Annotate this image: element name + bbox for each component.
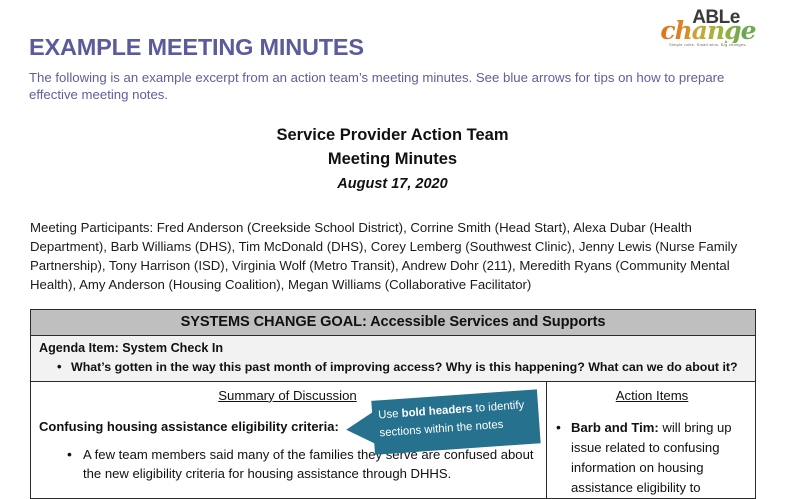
summary-column-header: Summary of Discussion: [39, 387, 536, 407]
able-change-logo: ABLe change Simple rules. Small wins. Bi…: [649, 6, 767, 56]
logo-tagline: Simple rules. Small wins. Big changes.: [634, 44, 782, 48]
team-name: Service Provider Action Team: [0, 124, 785, 148]
summary-bullet-list: A few team members said many of the fami…: [39, 445, 536, 484]
logo-word-able: ABLe: [692, 8, 740, 27]
agenda-bullet-list: What’s gotten in the way this past month…: [39, 359, 747, 376]
systems-change-goal-bar: SYSTEMS CHANGE GOAL: Accessible Services…: [31, 310, 755, 336]
minutes-columns: Summary of Discussion Confusing housing …: [31, 382, 755, 498]
action-item: Barb and Tim: will bring up issue relate…: [557, 418, 747, 498]
agenda-item-title: Agenda Item: System Check In: [39, 340, 747, 357]
action-item-owner: Barb and Tim:: [571, 420, 659, 435]
minutes-table: SYSTEMS CHANGE GOAL: Accessible Services…: [30, 309, 756, 499]
action-column-header: Action Items: [557, 387, 747, 407]
agenda-bullet: What’s gotten in the way this past month…: [71, 359, 747, 376]
summary-of-discussion-column: Summary of Discussion Confusing housing …: [31, 382, 547, 498]
action-items-column: Action Items Barb and Tim: will bring up…: [547, 382, 755, 498]
page-subtitle: The following is an example excerpt from…: [0, 60, 783, 104]
document-header: ABLe change Simple rules. Small wins. Bi…: [0, 0, 785, 103]
participants-paragraph: Meeting Participants: Fred Anderson (Cre…: [30, 218, 758, 295]
summary-bullet: A few team members said many of the fami…: [83, 445, 536, 484]
summary-section-heading: Confusing housing assistance eligibility…: [39, 418, 536, 436]
meeting-date: August 17, 2020: [0, 174, 785, 196]
document-type: Meeting Minutes: [0, 148, 785, 172]
agenda-block: Agenda Item: System Check In What’s gott…: [31, 336, 755, 382]
minutes-heading: Service Provider Action Team Meeting Min…: [0, 124, 785, 196]
